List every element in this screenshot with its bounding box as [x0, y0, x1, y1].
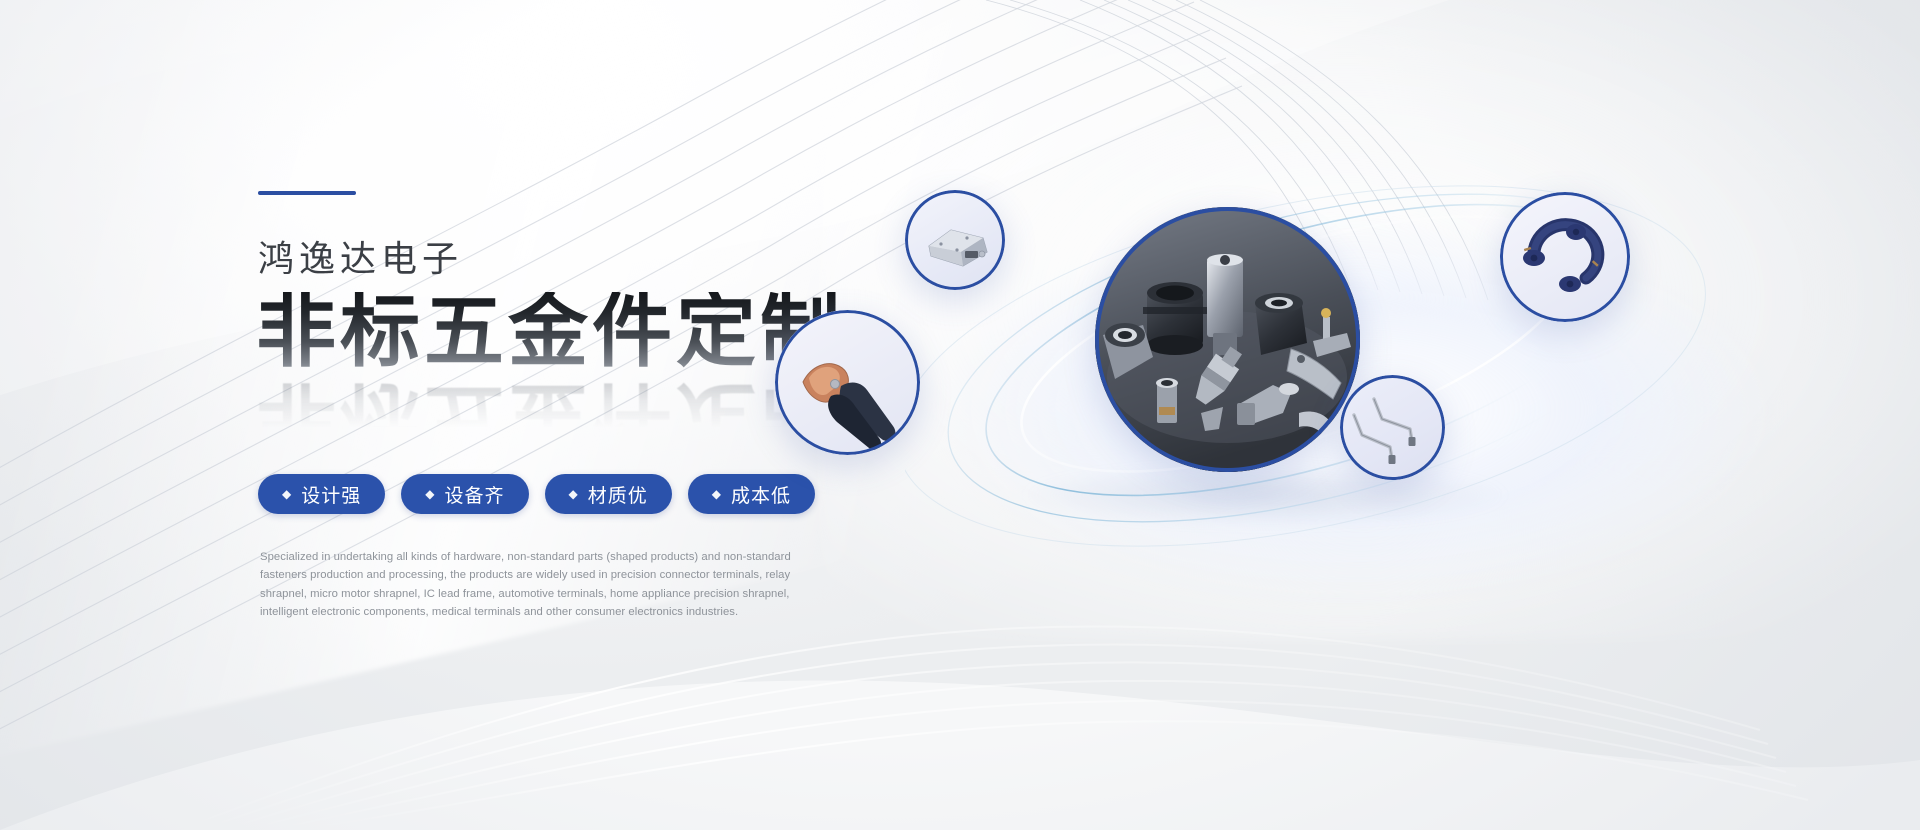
clip-photo	[1500, 192, 1630, 322]
hub-photo	[1095, 207, 1360, 472]
feature-tag-label: 成本低	[731, 481, 791, 508]
product-bubble-metal-box[interactable]	[905, 190, 1005, 290]
feature-tag-material[interactable]: ◆ 材质优	[545, 474, 672, 514]
product-bubble-hub[interactable]	[1095, 207, 1360, 472]
feature-tag-label: 设备齐	[444, 481, 504, 508]
diamond-icon: ◆	[569, 488, 579, 500]
feature-tag-label: 材质优	[588, 481, 648, 508]
feature-tag-list: ◆ 设计强 ◆ 设备齐 ◆ 材质优 ◆ 成本低	[258, 474, 815, 514]
description-paragraph: Specialized in undertaking all kinds of …	[260, 548, 840, 621]
product-composition	[905, 120, 1915, 640]
product-bubble-clip[interactable]	[1500, 192, 1630, 322]
feature-tag-design[interactable]: ◆ 设计强	[258, 474, 385, 514]
brand-name: 鸿逸达电子	[258, 230, 463, 282]
accent-rule	[258, 191, 356, 195]
feature-tag-label: 设计强	[301, 481, 361, 508]
product-bubble-clamp[interactable]	[775, 310, 920, 455]
hero-banner: 鸿逸达电子 非标五金件定制 非标五金件定制 ◆ 设计强 ◆ 设备齐 ◆ 材质优 …	[0, 0, 1920, 830]
diamond-icon: ◆	[712, 488, 722, 500]
headline-reflection: 非标五金件定制	[256, 378, 844, 458]
pins-photo	[1340, 375, 1445, 480]
product-bubble-pins[interactable]	[1340, 375, 1445, 480]
feature-tag-cost[interactable]: ◆ 成本低	[688, 474, 815, 514]
feature-tag-equipment[interactable]: ◆ 设备齐	[401, 474, 528, 514]
clamp-photo	[775, 310, 920, 455]
diamond-icon: ◆	[425, 488, 435, 500]
metal-box-photo	[905, 190, 1005, 290]
diamond-icon: ◆	[282, 488, 292, 500]
